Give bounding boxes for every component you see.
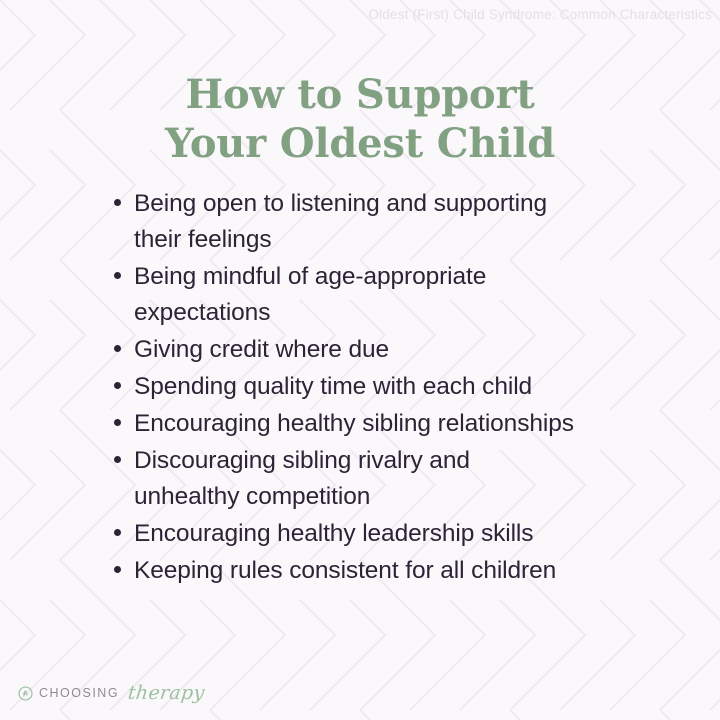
logo-script-wordmark: therapy — [127, 682, 206, 704]
list-item-label: Encouraging healthy leadership skills — [134, 516, 533, 552]
bullet-icon — [114, 382, 121, 389]
brand-logo[interactable]: CHOOSING therapy — [18, 682, 205, 704]
logo-wordmark: CHOOSING — [39, 686, 119, 700]
bullet-icon — [114, 272, 121, 279]
list-item: Being mindful of age-appropriate expecta… — [114, 259, 674, 331]
infographic-canvas: Oldest (First) Child Syndrome: Common Ch… — [0, 0, 720, 720]
list-item: Giving credit where due — [114, 332, 674, 368]
bullet-icon — [114, 419, 121, 426]
list-item: Encouraging healthy leadership skills — [114, 516, 674, 552]
page-title-line-1: How to Support — [0, 70, 720, 119]
page-title: How to Support Your Oldest Child — [0, 70, 720, 168]
list-item-label: Spending quality time with each child — [134, 369, 532, 405]
list-item-label: Giving credit where due — [134, 332, 389, 368]
header-strip: Oldest (First) Child Syndrome: Common Ch… — [0, 0, 720, 28]
bullet-icon — [114, 529, 121, 536]
bullet-icon — [114, 566, 121, 573]
list-item-label: Encouraging healthy sibling relationship… — [134, 406, 574, 442]
list-item: Keeping rules consistent for all childre… — [114, 553, 674, 589]
list-item-label: Being open to listening and supporting t… — [134, 186, 554, 258]
header-title: Oldest (First) Child Syndrome: Common Ch… — [368, 7, 712, 22]
list-item: Being open to listening and supporting t… — [114, 186, 674, 258]
list-item: Spending quality time with each child — [114, 369, 674, 405]
bullet-icon — [114, 345, 121, 352]
list-item: Encouraging healthy sibling relationship… — [114, 406, 674, 442]
leaf-circle-icon — [18, 686, 33, 701]
list-item-label: Discouraging sibling rivalry and unhealt… — [134, 443, 554, 515]
bullet-icon — [114, 456, 121, 463]
support-tips-list: Being open to listening and supporting t… — [114, 186, 674, 590]
bullet-icon — [114, 199, 121, 206]
page-title-line-2: Your Oldest Child — [0, 119, 720, 168]
list-item-label: Being mindful of age-appropriate expecta… — [134, 259, 554, 331]
list-item: Discouraging sibling rivalry and unhealt… — [114, 443, 674, 515]
list-item-label: Keeping rules consistent for all childre… — [134, 553, 556, 589]
